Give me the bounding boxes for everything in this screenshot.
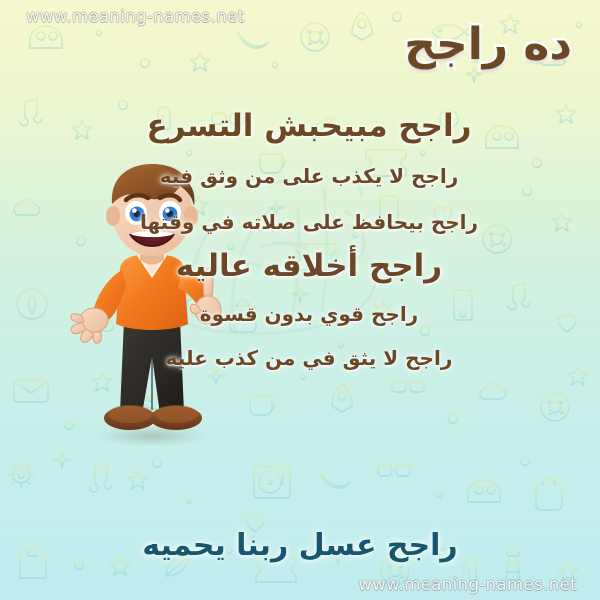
meaning-lines-list: راجح مبيحبش التسرع راجح لا يكذب على من و… xyxy=(0,100,600,370)
bottom-highlight-line: راجح عسل ربنا يحميه xyxy=(0,528,600,563)
meaning-line-4: راجح أخلاقه عاليه xyxy=(18,248,600,284)
meaning-line-1: راجح مبيحبش التسرع xyxy=(18,108,600,144)
name-meaning-poster: www.meaning-names.net ده راجح xyxy=(0,0,600,600)
page-title: ده راجح xyxy=(404,23,572,67)
meaning-line-3: راجح بيحافظ على صلاته في وقتها xyxy=(18,210,600,234)
watermark-top: www.meaning-names.net xyxy=(26,7,245,26)
watermark-bottom: www.meaning-names.net xyxy=(358,575,577,594)
meaning-line-6: راجح لا يثق في من كذب عليه xyxy=(18,346,600,370)
meaning-line-5: راجح قوي بدون قسوة xyxy=(18,302,600,326)
meaning-line-2: راجح لا يكذب على من وثق فيه xyxy=(18,164,600,188)
